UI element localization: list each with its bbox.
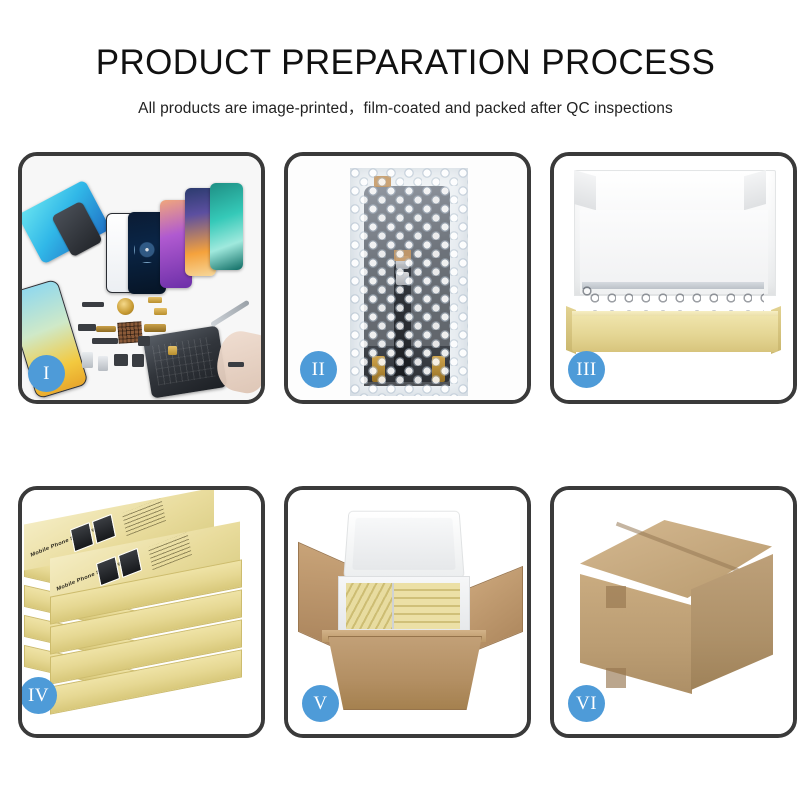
header: PRODUCT PREPARATION PROCESS All products… xyxy=(0,0,811,118)
copper-coil-part xyxy=(117,298,134,315)
small-part xyxy=(148,297,162,303)
process-step-6: VI xyxy=(550,486,797,738)
process-step-3: III xyxy=(550,152,797,404)
step-badge-4: IV xyxy=(20,677,57,714)
process-steps-grid: I II xyxy=(18,152,797,738)
phone-internal-board xyxy=(143,325,228,398)
process-step-5: V xyxy=(284,486,531,738)
carton-tape-lower xyxy=(606,668,626,688)
lid-flap-left xyxy=(574,170,596,210)
small-part xyxy=(82,352,93,368)
step-badge-3: III xyxy=(568,351,605,388)
lid-flap-right xyxy=(744,170,766,210)
step-badge-2: II xyxy=(300,351,337,388)
product-preparation-infographic: PRODUCT PREPARATION PROCESS All products… xyxy=(0,0,811,811)
small-part xyxy=(82,302,104,307)
small-part xyxy=(144,324,166,332)
box-screen-thumbnail xyxy=(118,548,142,578)
teal-gradient-phone xyxy=(210,183,243,270)
box-spec-lines xyxy=(122,498,166,536)
gold-boxes-left-group xyxy=(346,583,392,629)
crack-pattern-icon xyxy=(134,237,160,263)
small-part xyxy=(96,326,116,332)
step-badge-5: V xyxy=(302,685,339,722)
step-badge-6: VI xyxy=(568,685,605,722)
foam-box-contents xyxy=(346,583,460,629)
small-part xyxy=(92,338,118,344)
small-part xyxy=(154,308,167,315)
page-title: PRODUCT PREPARATION PROCESS xyxy=(0,44,811,83)
small-part xyxy=(228,362,244,367)
tweezers-tool xyxy=(210,300,250,328)
carton-body xyxy=(328,636,482,710)
small-part xyxy=(138,336,150,346)
gold-boxes-right-group xyxy=(394,583,460,629)
small-part xyxy=(132,354,144,367)
bubble-wrap-bag xyxy=(350,168,468,396)
process-step-2: II xyxy=(284,152,531,404)
box-screen-thumbnail xyxy=(70,522,94,552)
small-part xyxy=(78,324,96,331)
box-screen-thumbnail xyxy=(96,556,120,586)
carton-tape-upper xyxy=(606,586,626,608)
box-spec-lines xyxy=(148,532,192,570)
page-subtitle: All products are image-printed，film-coat… xyxy=(0,96,811,118)
foam-lid-inner xyxy=(352,518,456,570)
small-part xyxy=(168,346,177,355)
step-badge-1: I xyxy=(28,355,65,392)
process-step-4: Mobile Phone Spare Parts Mobile Phone Sp… xyxy=(18,486,265,738)
box-screen-thumbnail xyxy=(92,514,116,544)
small-part xyxy=(98,356,108,371)
stacked-gold-boxes-image: Mobile Phone Spare Parts Mobile Phone Sp… xyxy=(22,490,261,734)
gold-box-front xyxy=(572,316,778,352)
process-step-1: I xyxy=(18,152,265,404)
small-part xyxy=(114,354,128,366)
bubble-texture xyxy=(350,168,468,396)
foam-box-lid xyxy=(343,511,464,578)
